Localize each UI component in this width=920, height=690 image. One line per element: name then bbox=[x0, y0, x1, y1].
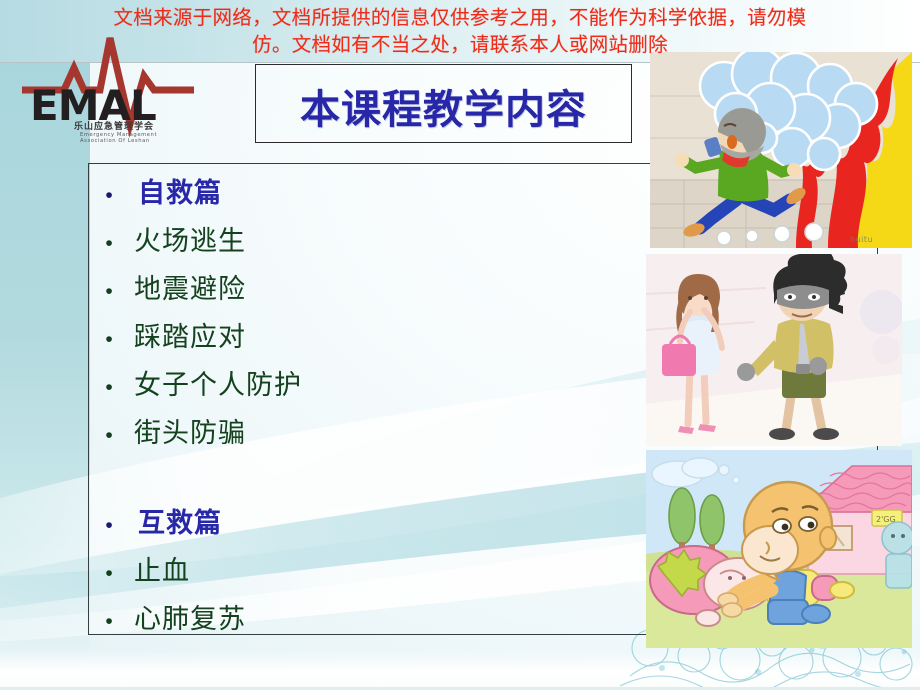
bullet-dot-icon: • bbox=[96, 425, 122, 446]
fire-escape-illustration: huitu bbox=[650, 52, 912, 248]
bullet-dot-icon: • bbox=[96, 377, 122, 398]
list-item-label: 自救篇 bbox=[122, 170, 222, 218]
list-item: • 地震避险 bbox=[96, 266, 616, 314]
logo-subtitle-cn: 乐山应急管理学会 bbox=[74, 120, 154, 132]
list-item: • 互救篇 bbox=[96, 500, 616, 548]
list-item: • 火场逃生 bbox=[96, 218, 616, 266]
bullet-dot-icon: • bbox=[96, 611, 122, 632]
list-spacer bbox=[96, 458, 616, 500]
disclaimer-line-1: 文档来源于网络，文档所提供的信息仅供参考之用，不能作为科学依据，请勿模 bbox=[0, 4, 920, 31]
disclaimer-line-2: 仿。文档如有不当之处，请联系本人或网站删除 bbox=[0, 31, 920, 58]
list-item-label: 心肺复苏 bbox=[122, 596, 246, 644]
list-item: • 自救篇 bbox=[96, 170, 616, 218]
background-bottom-fade bbox=[0, 650, 920, 690]
bullet-dot-icon: • bbox=[96, 563, 122, 584]
course-content-list: • 自救篇 • 火场逃生 • 地震避险 • 踩踏应对 • 女子个人防护 • 街头… bbox=[96, 170, 616, 644]
image-watermark: huitu bbox=[850, 235, 873, 244]
bullet-dot-icon: • bbox=[96, 281, 122, 302]
street-safety-illustration bbox=[646, 254, 902, 446]
list-item-label: 止血 bbox=[122, 548, 190, 596]
list-item: • 街头防骗 bbox=[96, 410, 616, 458]
disclaimer-banner: 文档来源于网络，文档所提供的信息仅供参考之用，不能作为科学依据，请勿模 仿。文档… bbox=[0, 4, 920, 58]
bullet-dot-icon: • bbox=[96, 185, 122, 206]
cpr-illustration: 2'GG bbox=[646, 450, 912, 648]
list-item-label: 火场逃生 bbox=[122, 218, 246, 266]
list-item: • 心肺复苏 bbox=[96, 596, 616, 644]
slide-canvas: EMAL 乐山应急管理学会 Emergency Management Assoc… bbox=[0, 0, 920, 690]
list-item: • 止血 bbox=[96, 548, 616, 596]
list-item: • 女子个人防护 bbox=[96, 362, 616, 410]
list-item-label: 踩踏应对 bbox=[122, 314, 246, 362]
bullet-dot-icon: • bbox=[96, 515, 122, 536]
bullet-dot-icon: • bbox=[96, 233, 122, 254]
logo-subtitle-en-2: Association Of Leshan bbox=[80, 138, 150, 143]
bullet-dot-icon: • bbox=[96, 329, 122, 350]
list-item-label: 女子个人防护 bbox=[122, 362, 302, 410]
list-item-label: 地震避险 bbox=[122, 266, 246, 314]
list-item-label: 街头防骗 bbox=[122, 410, 246, 458]
list-item-label: 互救篇 bbox=[122, 500, 222, 548]
page-title: 本课程教学内容 bbox=[255, 66, 632, 145]
list-item: • 踩踏应对 bbox=[96, 314, 616, 362]
